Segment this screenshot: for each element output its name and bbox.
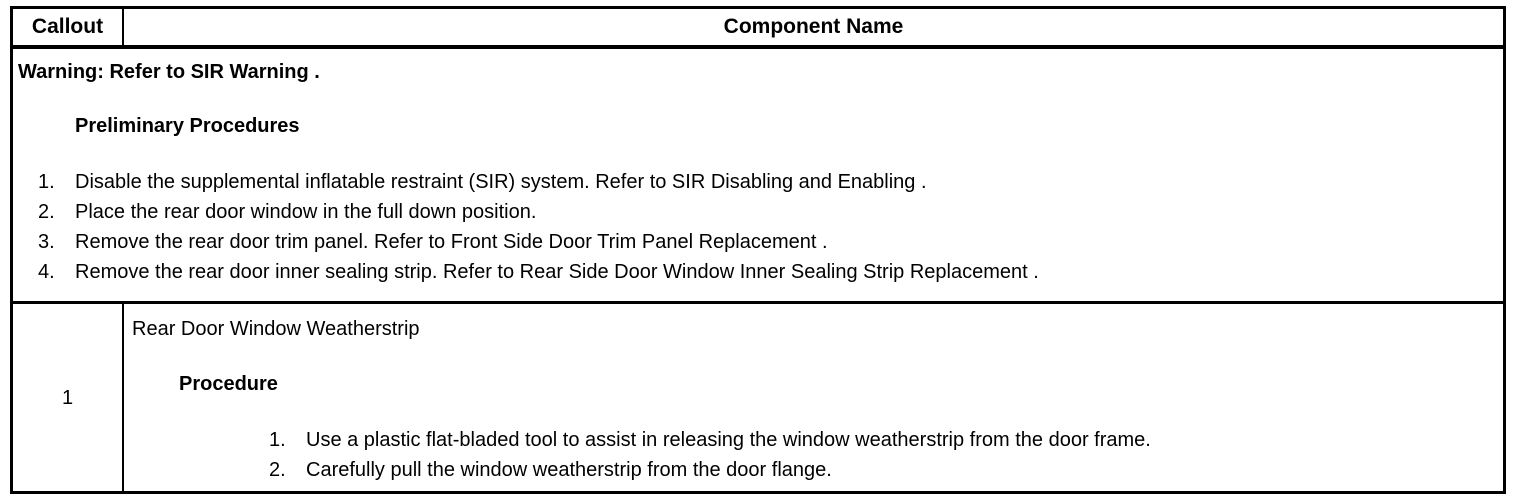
list-item: 3. Remove the rear door trim panel. Refe… — [13, 227, 1503, 257]
list-item: 2. Carefully pull the window weatherstri… — [124, 455, 1503, 485]
warning-row: Warning: Refer to SIR Warning . Prelimin… — [13, 49, 1503, 304]
list-item-number: 3. — [38, 227, 68, 257]
list-item: 1. Disable the supplemental inflatable r… — [13, 167, 1503, 197]
list-item-number: 2. — [269, 455, 301, 485]
callout-number: 1 — [62, 386, 73, 410]
header-cell-callout: Callout — [13, 9, 124, 45]
component-row: 1 Rear Door Window Weatherstrip Procedur… — [13, 304, 1503, 491]
preliminary-steps-list: 1. Disable the supplemental inflatable r… — [13, 167, 1503, 287]
list-item: 4. Remove the rear door inner sealing st… — [13, 257, 1503, 287]
list-item-number: 2. — [38, 197, 68, 227]
list-item-text: Disable the supplemental inflatable rest… — [75, 171, 927, 193]
list-item: 1. Use a plastic flat-bladed tool to ass… — [124, 425, 1503, 455]
list-item-number: 4. — [38, 257, 68, 287]
header-label-callout: Callout — [32, 9, 103, 45]
procedure-steps-list: 1. Use a plastic flat-bladed tool to ass… — [124, 425, 1503, 491]
service-procedure-table: Callout Component Name Warning: Refer to… — [10, 6, 1506, 494]
warning-cell: Warning: Refer to SIR Warning . Prelimin… — [13, 49, 1503, 301]
component-title: Rear Door Window Weatherstrip — [124, 316, 1503, 342]
table-header-row: Callout Component Name — [13, 9, 1503, 49]
preliminary-procedures-heading: Preliminary Procedures — [13, 113, 1503, 139]
procedure-heading: Procedure — [124, 371, 1503, 397]
list-item-number: 1. — [38, 167, 68, 197]
header-label-component-name: Component Name — [124, 9, 1503, 45]
header-cell-component-name: Component Name — [124, 9, 1503, 45]
callout-cell: 1 — [13, 304, 124, 491]
list-item-text: Place the rear door window in the full d… — [75, 201, 536, 223]
list-item-text: Remove the rear door inner sealing strip… — [75, 261, 1039, 283]
list-item: 2. Place the rear door window in the ful… — [13, 197, 1503, 227]
warning-text: Warning: Refer to SIR Warning . — [13, 59, 1503, 85]
list-item-text: Use a plastic flat-bladed tool to assist… — [306, 429, 1151, 451]
list-item-text: Carefully pull the window weatherstrip f… — [306, 459, 832, 481]
list-item-text: Remove the rear door trim panel. Refer t… — [75, 231, 828, 253]
component-cell: Rear Door Window Weatherstrip Procedure … — [124, 304, 1503, 491]
list-item-number: 1. — [269, 425, 301, 455]
